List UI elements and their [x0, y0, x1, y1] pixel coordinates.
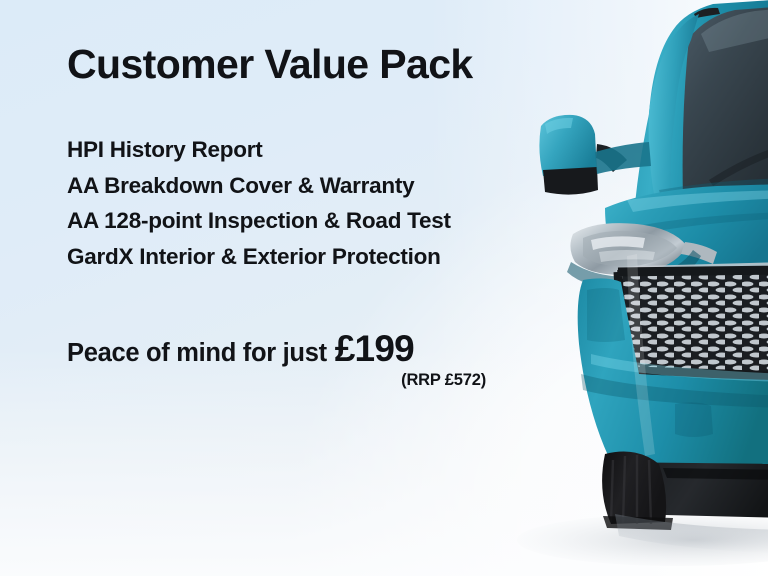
page-title: Customer Value Pack	[67, 41, 473, 88]
bumper-air-intake-panel	[587, 288, 625, 342]
list-item: AA Breakdown Cover & Warranty	[67, 168, 451, 204]
price-lead-text: Peace of mind for just	[67, 339, 327, 368]
list-item: AA 128-point Inspection & Road Test	[67, 203, 451, 239]
price-amount: £199	[335, 328, 414, 370]
promo-banner: Customer Value Pack HPI History Report A…	[0, 0, 768, 576]
price-block: Peace of mind for just £199 (RRP £572)	[67, 328, 487, 390]
feature-list: HPI History Report AA Breakdown Cover & …	[67, 132, 451, 274]
price-line: Peace of mind for just £199	[67, 328, 487, 370]
list-item: GardX Interior & Exterior Protection	[67, 239, 451, 275]
price-rrp: (RRP £572)	[67, 371, 487, 390]
fog-lamp-recess	[675, 402, 713, 437]
vehicle-photo	[487, 0, 768, 576]
list-item: HPI History Report	[67, 132, 451, 168]
